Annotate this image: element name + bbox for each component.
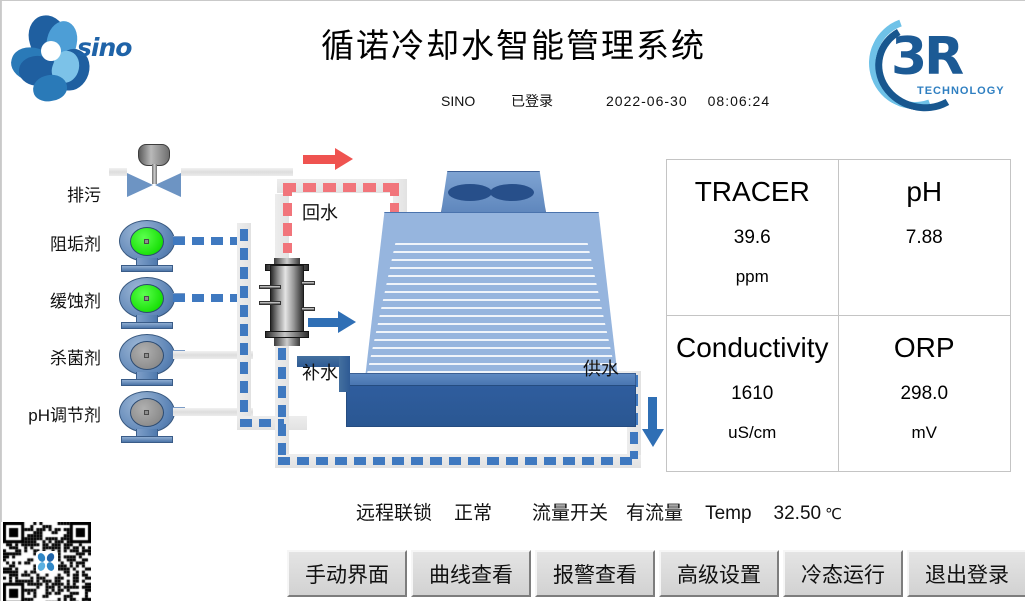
pump-base — [121, 436, 173, 443]
supply-flow-arrow-head — [642, 429, 664, 447]
logo-3r-text: 3R — [891, 27, 961, 87]
dosing-label-corrosion-inhibitor: 缓蚀剂 — [21, 287, 101, 312]
return-flow-arrow-head — [335, 148, 353, 170]
valve-body-right — [155, 173, 181, 197]
vessel-bottom-cap — [274, 338, 300, 346]
tower-fill-stack — [364, 212, 619, 387]
readout-unit: uS/cm — [728, 423, 776, 443]
readout-unit: ppm — [736, 267, 769, 287]
supply-loop-left-vertical — [240, 229, 248, 419]
action-button-bar: 手动界面 曲线查看 报警查看 高级设置 冷态运行 退出登录 — [287, 550, 1025, 597]
dosing-label-blowdown: 排污 — [21, 181, 101, 206]
pump-ph-adjuster[interactable] — [119, 391, 177, 443]
supply-water-label: 供水 — [583, 355, 619, 381]
dosing-label-biocide: 杀菌剂 — [21, 344, 101, 369]
readout-name: pH — [906, 174, 942, 209]
left-divider — [1, 1, 2, 522]
readout-value: 7.88 — [906, 227, 943, 249]
logo-technology-text: TECHNOLOGY — [917, 85, 1005, 97]
readout-value: 298.0 — [900, 383, 948, 405]
flow-switch-label: 流量开关 — [532, 498, 608, 525]
readout-cell-orp[interactable]: ORP 298.0 mV — [839, 316, 1011, 472]
pump-base — [121, 265, 173, 272]
temperature-value: 32.50 — [774, 503, 822, 525]
current-user: SINO — [441, 93, 511, 109]
tower-basin — [346, 385, 636, 427]
readout-name: Conductivity — [676, 330, 829, 365]
vessel-nozzle-left-upper — [259, 285, 281, 289]
measurement-panel: TRACER 39.6 ppm pH 7.88 Conductivity 161… — [666, 159, 1011, 472]
supply-flow-arrow-shaft — [648, 397, 657, 431]
temperature-label: Temp — [705, 503, 751, 525]
manual-interface-button[interactable]: 手动界面 — [287, 550, 407, 597]
readout-value: 39.6 — [734, 227, 771, 249]
current-time: 08:06:24 — [708, 93, 771, 109]
valve-actuator — [138, 144, 170, 166]
vessel-nozzle-right-lower — [301, 307, 315, 311]
vessel-nozzle-right-upper — [301, 281, 315, 285]
pump-base — [121, 379, 173, 386]
current-date: 2022-06-30 — [606, 93, 688, 109]
pump-biocide[interactable] — [119, 334, 177, 386]
pump-center-dot — [144, 239, 149, 244]
vessel-nozzle-left-lower — [259, 301, 281, 305]
heat-exchanger-vessel[interactable] — [263, 255, 313, 347]
blowdown-pipe-right — [181, 168, 293, 176]
readout-cell-tracer[interactable]: TRACER 39.6 ppm — [667, 160, 839, 316]
vessel-bottom-flange — [265, 331, 309, 338]
qr-center-logo — [36, 551, 58, 573]
valve-body-left — [127, 173, 153, 197]
pump-antiscalant[interactable] — [119, 220, 177, 272]
logout-button[interactable]: 退出登录 — [907, 550, 1025, 597]
return-water-label: 回水 — [302, 199, 338, 225]
3r-technology-logo: 3R TECHNOLOGY — [865, 7, 1015, 115]
supply-loop-bottom — [278, 457, 636, 465]
temperature-unit: ℃ — [825, 505, 842, 523]
cold-start-run-button[interactable]: 冷态运行 — [783, 550, 903, 597]
blowdown-valve[interactable] — [123, 144, 185, 196]
header-status-line: SINO 已登录 2022-06-30 08:06:24 — [441, 91, 770, 111]
bottom-status-bar: 远程联锁 正常 流量开关 有流量 Temp 32.50 ℃ — [356, 498, 842, 525]
flow-switch-value: 有流量 — [626, 498, 683, 525]
dosing-label-ph-adjuster: pH调节剂 — [14, 401, 101, 426]
readout-name: TRACER — [695, 174, 810, 209]
readout-cell-ph[interactable]: pH 7.88 — [839, 160, 1011, 316]
pump-base — [121, 322, 173, 329]
login-status: 已登录 — [511, 91, 606, 111]
remote-interlock-value: 正常 — [454, 498, 492, 525]
tower-fan-blade-left — [448, 184, 492, 201]
remote-interlock-label: 远程联锁 — [356, 498, 432, 525]
trend-curve-button[interactable]: 曲线查看 — [411, 550, 531, 597]
readout-unit: mV — [912, 423, 938, 443]
hmi-screen: sino 循诺冷却水智能管理系统 SINO 已登录 2022-06-30 08:… — [0, 0, 1025, 601]
cooling-tower — [346, 171, 636, 421]
return-flow-arrow-shaft — [303, 155, 337, 164]
return-line-down — [283, 183, 292, 253]
dosing-label-antiscalant: 阻垢剂 — [21, 230, 101, 255]
pump-center-dot — [144, 410, 149, 415]
makeup-water-label: 补水 — [302, 359, 338, 385]
alarm-view-button[interactable]: 报警查看 — [535, 550, 655, 597]
blowdown-pipe-left — [109, 168, 127, 176]
readout-name: ORP — [894, 330, 955, 365]
advanced-settings-button[interactable]: 高级设置 — [659, 550, 779, 597]
makeup-pipe-vertical — [339, 356, 350, 392]
tower-fan-blade-right — [490, 184, 534, 201]
pump-center-dot — [144, 353, 149, 358]
qr-code[interactable] — [3, 522, 91, 601]
pump-corrosion-inhibitor[interactable] — [119, 277, 177, 329]
pump-center-dot — [144, 296, 149, 301]
readout-value: 1610 — [731, 383, 773, 405]
readout-cell-conductivity[interactable]: Conductivity 1610 uS/cm — [667, 316, 839, 472]
